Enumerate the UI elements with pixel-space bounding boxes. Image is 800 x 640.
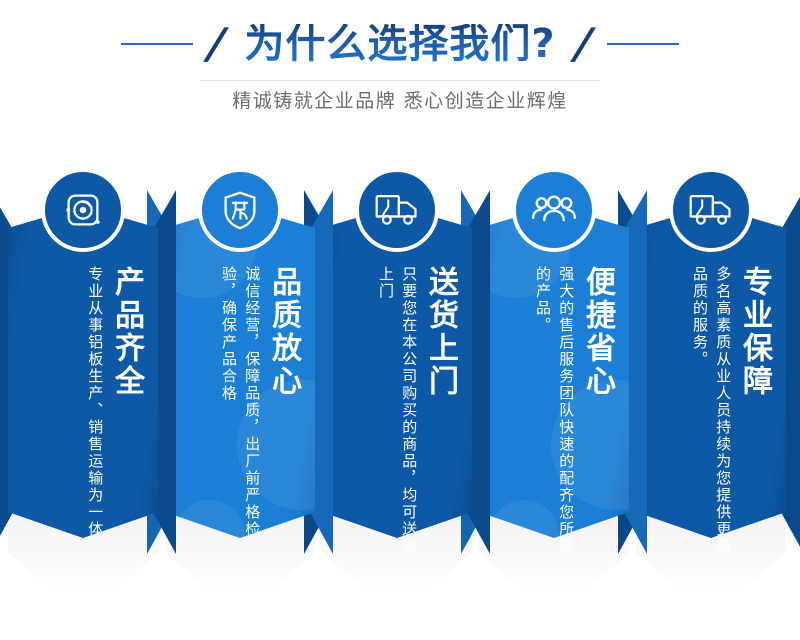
panel-text-block: 送货上门只要您在本公司购买的商品，均可送货上门 bbox=[322, 266, 472, 566]
panel-description: 专业从事铝板生产、销售运输为一体 bbox=[83, 266, 106, 538]
safe-vault-icon bbox=[41, 168, 125, 252]
panel-text-block: 品质放心诚信经营，保障品质，出厂前严格检验，确保产品合格 bbox=[165, 266, 315, 566]
feature-panel[interactable]: 品质放心诚信经营，保障品质，出厂前严格检验，确保产品合格 bbox=[165, 170, 315, 570]
subtitle-divider bbox=[200, 80, 600, 81]
feature-banner-list: 产品齐全专业从事铝板生产、销售运输为一体 品质放心诚信经营，保障品质，出厂前严格… bbox=[0, 170, 800, 640]
title-rule-right bbox=[607, 43, 679, 45]
panel-description: 诚信经营，保障品质，出厂前严格检验，确保产品合格 bbox=[217, 266, 264, 566]
people-group-icon bbox=[512, 168, 596, 252]
panel-heading: 品质放心 bbox=[267, 266, 299, 398]
panel-description: 多名高素质从业人员持续为您提供更高品质的服务。 bbox=[688, 266, 735, 566]
panel-heading: 便捷省心 bbox=[581, 266, 613, 398]
panel-text-block: 便捷省心强大的售后服务团队快速的配齐您所需的产品。 bbox=[479, 266, 629, 566]
slash-right-decoration: / bbox=[571, 23, 595, 65]
feature-panel[interactable]: 专业保障多名高素质从业人员持续为您提供更高品质的服务。 bbox=[636, 170, 786, 570]
title-rule-left bbox=[121, 43, 193, 45]
shield-quality-icon bbox=[198, 168, 282, 252]
page-title: 为什么选择我们? bbox=[244, 24, 555, 64]
feature-panel[interactable]: 产品齐全专业从事铝板生产、销售运输为一体 bbox=[8, 170, 158, 570]
panel-heading: 产品齐全 bbox=[110, 266, 142, 398]
panel-description: 只要您在本公司购买的商品，均可送货上门 bbox=[374, 266, 421, 566]
panel-text-block: 产品齐全专业从事铝板生产、销售运输为一体 bbox=[8, 266, 158, 566]
page-header: / 为什么选择我们? / 精诚铸就企业品牌 悉心创造企业辉煌 bbox=[0, 0, 800, 168]
feature-panel[interactable]: 送货上门只要您在本公司购买的商品，均可送货上门 bbox=[322, 170, 472, 570]
panel-description: 强大的售后服务团队快速的配齐您所需的产品。 bbox=[531, 266, 578, 566]
page-subtitle: 精诚铸就企业品牌 悉心创造企业辉煌 bbox=[0, 86, 800, 113]
delivery-truck-icon bbox=[355, 168, 439, 252]
delivery-truck-icon bbox=[669, 168, 753, 252]
slash-left-decoration: / bbox=[205, 23, 229, 65]
panel-heading: 送货上门 bbox=[424, 266, 456, 398]
feature-panel[interactable]: 便捷省心强大的售后服务团队快速的配齐您所需的产品。 bbox=[479, 170, 629, 570]
panel-heading: 专业保障 bbox=[738, 266, 770, 398]
title-row: / 为什么选择我们? / bbox=[0, 16, 800, 72]
panel-text-block: 专业保障多名高素质从业人员持续为您提供更高品质的服务。 bbox=[636, 266, 786, 566]
